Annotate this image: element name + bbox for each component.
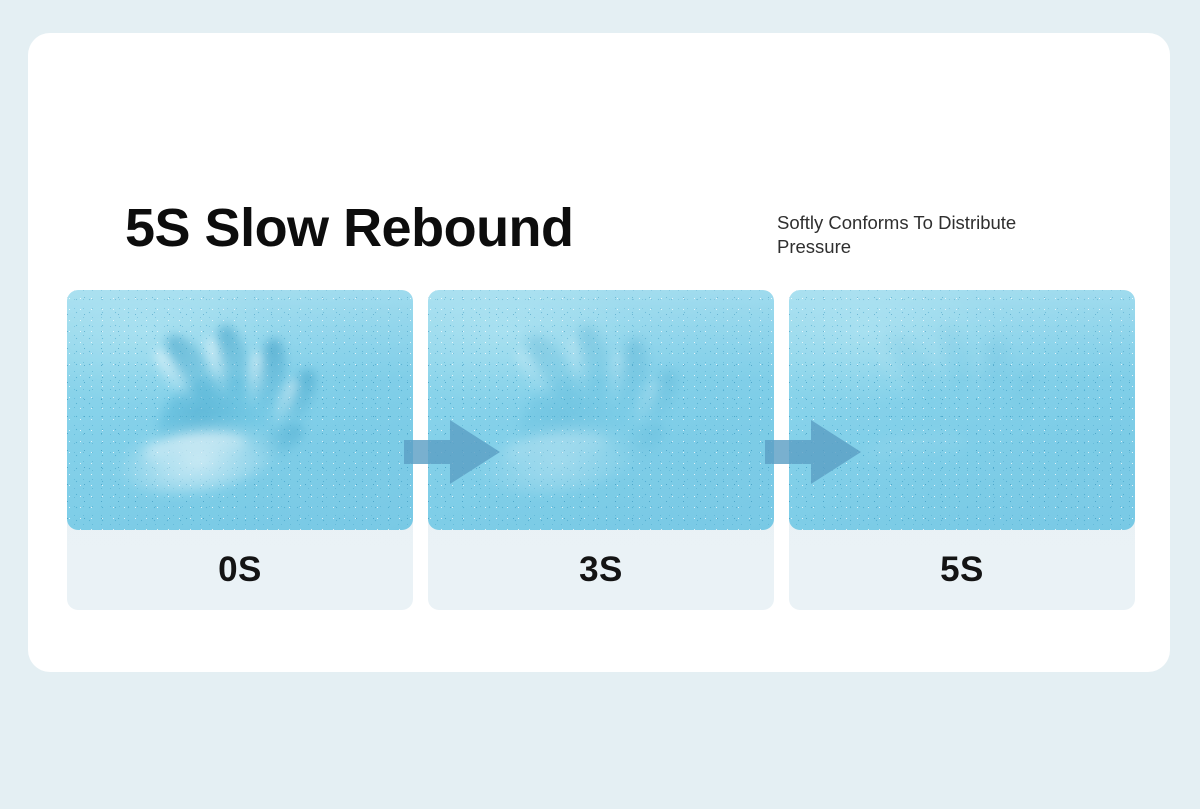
- handprint-impression-5s: [789, 290, 1135, 530]
- arrow-right-icon-2: [765, 420, 861, 484]
- foam-image-0s: [67, 290, 413, 530]
- handprint-impression-0s: [67, 290, 413, 530]
- handprint-impression-3s: [428, 290, 774, 530]
- step-label-5s: 5S: [789, 530, 1135, 610]
- foam-image-5s: [789, 290, 1135, 530]
- page-title: 5S Slow Rebound: [125, 197, 574, 259]
- wrist-highlight: [864, 428, 971, 469]
- sequence-step-0s: 0S: [67, 290, 413, 610]
- rebound-sequence: 0S 3S: [67, 290, 1135, 610]
- arrow-right-icon-1: [404, 420, 500, 484]
- page-subtitle: Softly Conforms To Distribute Pressure: [777, 211, 1087, 259]
- step-label-3s: 3S: [428, 530, 774, 610]
- content-card: 5S Slow Rebound Softly Conforms To Distr…: [28, 33, 1170, 672]
- step-label-0s: 0S: [67, 530, 413, 610]
- foam-image-3s: [428, 290, 774, 530]
